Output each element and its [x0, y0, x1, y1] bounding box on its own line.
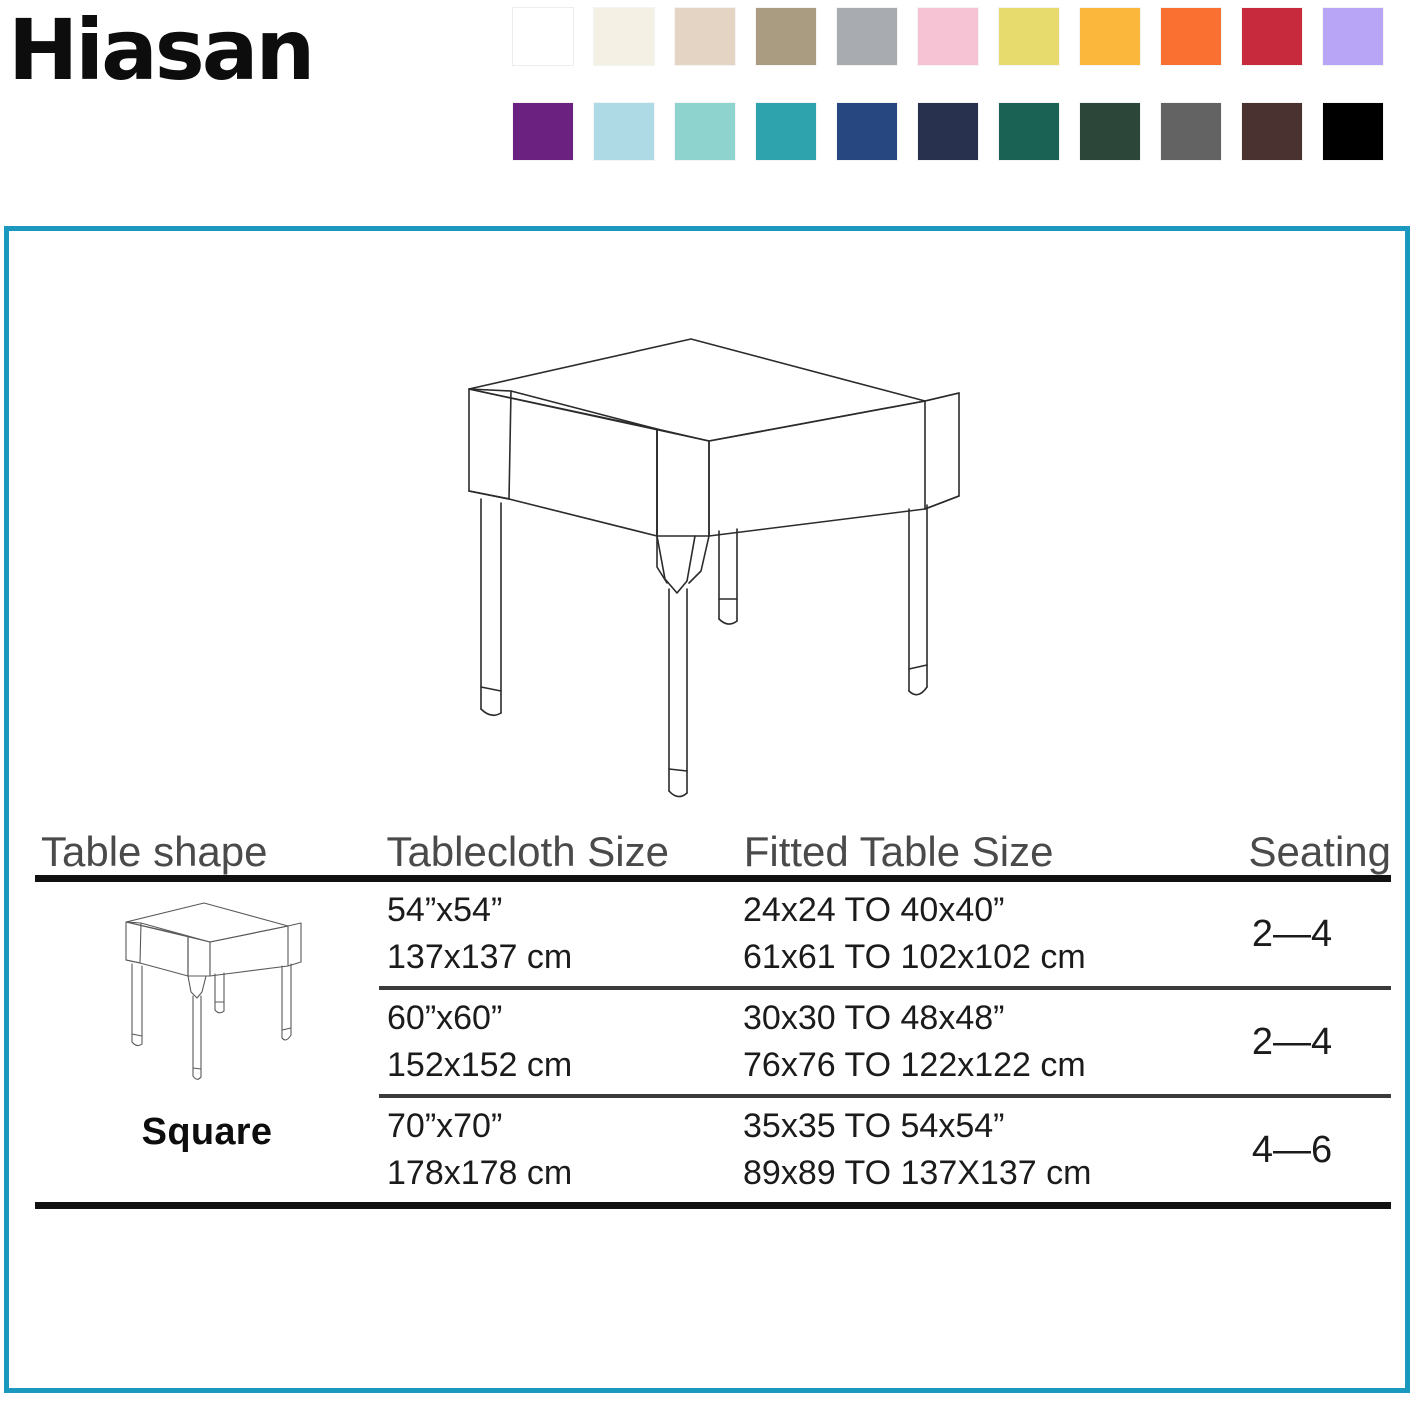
cell-tablecloth-size: 60”x60”152x152 cm	[379, 995, 735, 1089]
table-header-row: Table shape Tablecloth Size Fitted Table…	[35, 809, 1391, 875]
color-swatch-yellow[interactable]	[999, 8, 1059, 65]
color-swatch-dark-brown[interactable]	[1242, 103, 1302, 160]
brand-header: Hiasan	[0, 0, 1416, 200]
tablecloth-size-cm: 152x152 cm	[387, 1042, 735, 1089]
color-swatch-red[interactable]	[1242, 8, 1302, 65]
table-body: Square 54”x54”137x137 cm24x24 TO 40x40”6…	[35, 882, 1391, 1202]
cell-shape-spacer	[35, 990, 379, 1094]
column-header-fitted-table-size: Fitted Table Size	[738, 831, 1218, 873]
color-swatch-beige[interactable]	[675, 8, 735, 65]
color-swatch-lavender[interactable]	[1323, 8, 1383, 65]
tablecloth-size-inches: 60”x60”	[387, 999, 502, 1037]
cell-seating: 2—4	[1215, 908, 1391, 960]
fitted-size-inches: 30x30 TO 48x48”	[743, 999, 1004, 1037]
tablecloth-size-cm: 137x137 cm	[387, 934, 735, 981]
cell-seating: 2—4	[1215, 1016, 1391, 1068]
cell-tablecloth-size: 54”x54”137x137 cm	[379, 887, 735, 981]
color-swatch-dark-gray[interactable]	[1161, 103, 1221, 160]
square-table-illustration	[419, 331, 979, 801]
color-swatch-orange[interactable]	[1161, 8, 1221, 65]
header-divider	[35, 875, 1391, 882]
column-header-tablecloth-size: Tablecloth Size	[380, 831, 737, 873]
product-infographic: Hiasan	[0, 0, 1416, 1402]
fitted-size-cm: 89x89 TO 137X137 cm	[743, 1150, 1215, 1197]
cell-fitted-table-size: 24x24 TO 40x40”61x61 TO 102x102 cm	[735, 887, 1215, 981]
column-header-seating: Seating	[1217, 831, 1391, 873]
fitted-size-cm: 76x76 TO 122x122 cm	[743, 1042, 1215, 1089]
brand-logo: Hiasan	[8, 8, 312, 92]
fitted-size-inches: 24x24 TO 40x40”	[743, 891, 1004, 929]
cell-tablecloth-size: 70”x70”178x178 cm	[379, 1103, 735, 1197]
color-swatch-forest-green[interactable]	[1080, 103, 1140, 160]
tablecloth-size-inches: 70”x70”	[387, 1107, 502, 1145]
color-swatch-white[interactable]	[513, 8, 573, 65]
cell-seating: 4—6	[1215, 1124, 1391, 1176]
color-swatch-emerald[interactable]	[999, 103, 1059, 160]
color-swatch-midnight-blue[interactable]	[918, 103, 978, 160]
table-bottom-divider	[35, 1202, 1391, 1209]
size-spec-table: Table shape Tablecloth Size Fitted Table…	[35, 809, 1391, 1209]
fitted-size-inches: 35x35 TO 54x54”	[743, 1107, 1004, 1145]
color-swatch-pink[interactable]	[918, 8, 978, 65]
table-row: 54”x54”137x137 cm24x24 TO 40x40”61x61 TO…	[35, 882, 1391, 986]
fitted-size-cm: 61x61 TO 102x102 cm	[743, 934, 1215, 981]
tablecloth-size-cm: 178x178 cm	[387, 1150, 735, 1197]
color-swatch-gold[interactable]	[1080, 8, 1140, 65]
cell-shape-spacer	[35, 1098, 379, 1202]
color-swatch-purple[interactable]	[513, 103, 573, 160]
column-header-table-shape: Table shape	[35, 831, 380, 873]
color-swatch-light-blue[interactable]	[594, 103, 654, 160]
cell-shape-spacer	[35, 882, 379, 986]
color-swatch-gray[interactable]	[837, 8, 897, 65]
color-swatch-ivory[interactable]	[594, 8, 654, 65]
size-chart-panel: Table shape Tablecloth Size Fitted Table…	[4, 226, 1410, 1393]
tablecloth-size-inches: 54”x54”	[387, 891, 502, 929]
color-swatch-taupe[interactable]	[756, 8, 816, 65]
table-row: 60”x60”152x152 cm30x30 TO 48x48”76x76 TO…	[35, 990, 1391, 1094]
color-swatch-grid	[513, 8, 1409, 160]
color-swatch-black[interactable]	[1323, 103, 1383, 160]
color-swatch-aqua[interactable]	[675, 103, 735, 160]
color-swatch-navy[interactable]	[837, 103, 897, 160]
table-row: 70”x70”178x178 cm35x35 TO 54x54”89x89 TO…	[35, 1098, 1391, 1202]
cell-fitted-table-size: 35x35 TO 54x54”89x89 TO 137X137 cm	[735, 1103, 1215, 1197]
cell-fitted-table-size: 30x30 TO 48x48”76x76 TO 122x122 cm	[735, 995, 1215, 1089]
color-swatch-teal[interactable]	[756, 103, 816, 160]
